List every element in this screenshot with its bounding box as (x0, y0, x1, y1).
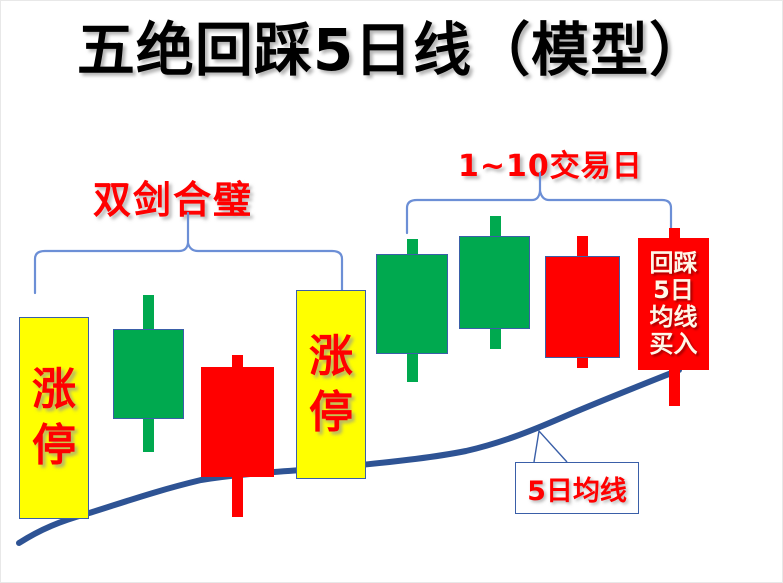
model-diagram-canvas: 五绝回踩5日线（模型） 双剑合璧 1~10交易日 涨 停 涨 停 (0, 0, 783, 583)
limit-up-box-1: 涨 停 (19, 317, 89, 519)
ma-callout-leader-line (534, 431, 567, 462)
limit-up-box-2-line1: 涨 (309, 329, 353, 385)
limit-up-box-1-line1: 涨 (32, 362, 76, 418)
limit-up-box-1-line2: 停 (32, 418, 76, 474)
ma-callout-box: 5日均线 (515, 462, 639, 514)
limit-up-box-2-line2: 停 (309, 385, 353, 441)
limit-up-box-2: 涨 停 (296, 290, 366, 479)
ma-callout-leader (1, 1, 783, 583)
ma-callout-text: 5日均线 (527, 469, 627, 508)
